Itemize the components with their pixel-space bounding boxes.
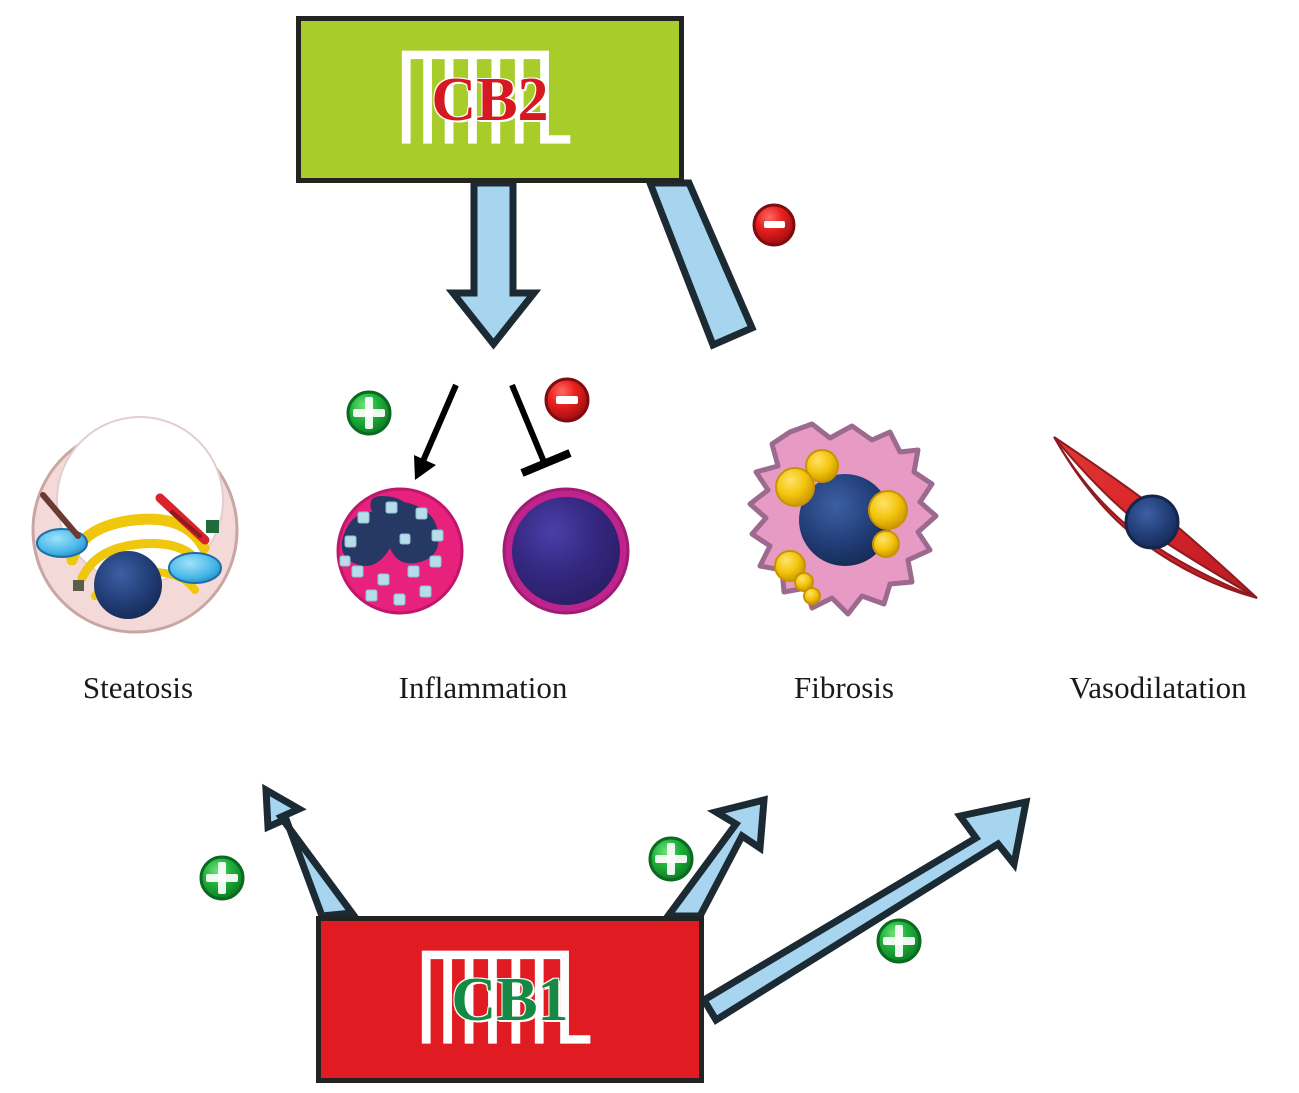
outcome-label-steatosis: Steatosis	[0, 670, 276, 706]
sign-badge-cb2-inflammation-plus	[348, 392, 390, 434]
cb2-label: CB2	[431, 69, 548, 131]
outcome-label-vasodilatation: Vasodilatation	[1020, 670, 1296, 706]
inflammation-stimulate-arrow	[414, 385, 456, 480]
steatosis-cell-illustration	[33, 417, 237, 632]
sign-badge-cb1-steatosis-plus	[201, 857, 243, 899]
cb2-receptor-box[interactable]: CB2	[296, 16, 684, 183]
lymphocyte-cell-illustration	[504, 489, 628, 613]
stellate-cell-illustration	[750, 424, 936, 614]
sign-badge-cb1-fibrosis-plus	[650, 838, 692, 880]
cb1-up-left-arrow	[266, 790, 352, 916]
cb1-receptor-box[interactable]: CB1	[316, 916, 704, 1083]
outcome-label-inflammation: Inflammation	[345, 670, 621, 706]
smooth-muscle-cell-illustration	[1054, 437, 1257, 598]
sign-badge-cb2-inflammation-minus	[546, 379, 588, 421]
outcome-label-fibrosis: Fibrosis	[706, 670, 982, 706]
neutrophil-cell-illustration	[338, 489, 462, 613]
sign-badge-cb2-fibrosis-minus	[754, 205, 794, 245]
cb2-diagonal-arrow	[650, 183, 752, 345]
sign-badge-cb1-vasodilatation-plus	[878, 920, 920, 962]
diagram-canvas: CB2 CB1 Steatosis Inflammation Fibrosis …	[0, 0, 1299, 1093]
cb2-down-arrow	[453, 183, 534, 344]
cb1-label: CB1	[451, 969, 568, 1031]
